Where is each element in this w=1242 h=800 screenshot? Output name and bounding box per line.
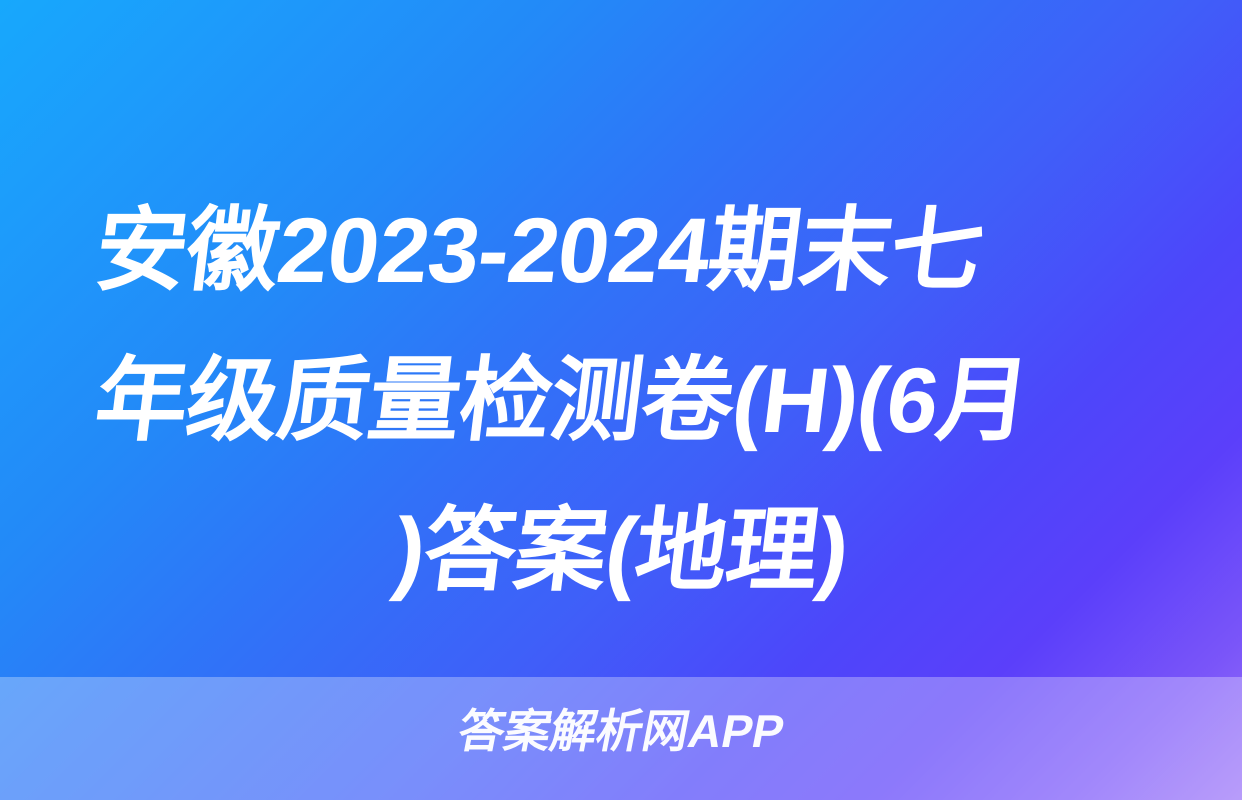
watermark-text: 答案解析网APP <box>454 705 789 757</box>
page-title: 安徽2023-2024期末七 年级质量检测卷(H)(6月 )答案(地理) <box>0 176 1242 626</box>
title-line-1: 安徽2023-2024期末七 <box>0 176 1242 326</box>
title-line-2: 年级质量检测卷(H)(6月 <box>0 326 1242 476</box>
watermark: 答案解析网APP <box>0 700 1242 762</box>
poster-canvas: 安徽2023-2024期末七 年级质量检测卷(H)(6月 )答案(地理) 答案解… <box>0 0 1242 800</box>
title-line-3: )答案(地理) <box>0 476 1242 626</box>
